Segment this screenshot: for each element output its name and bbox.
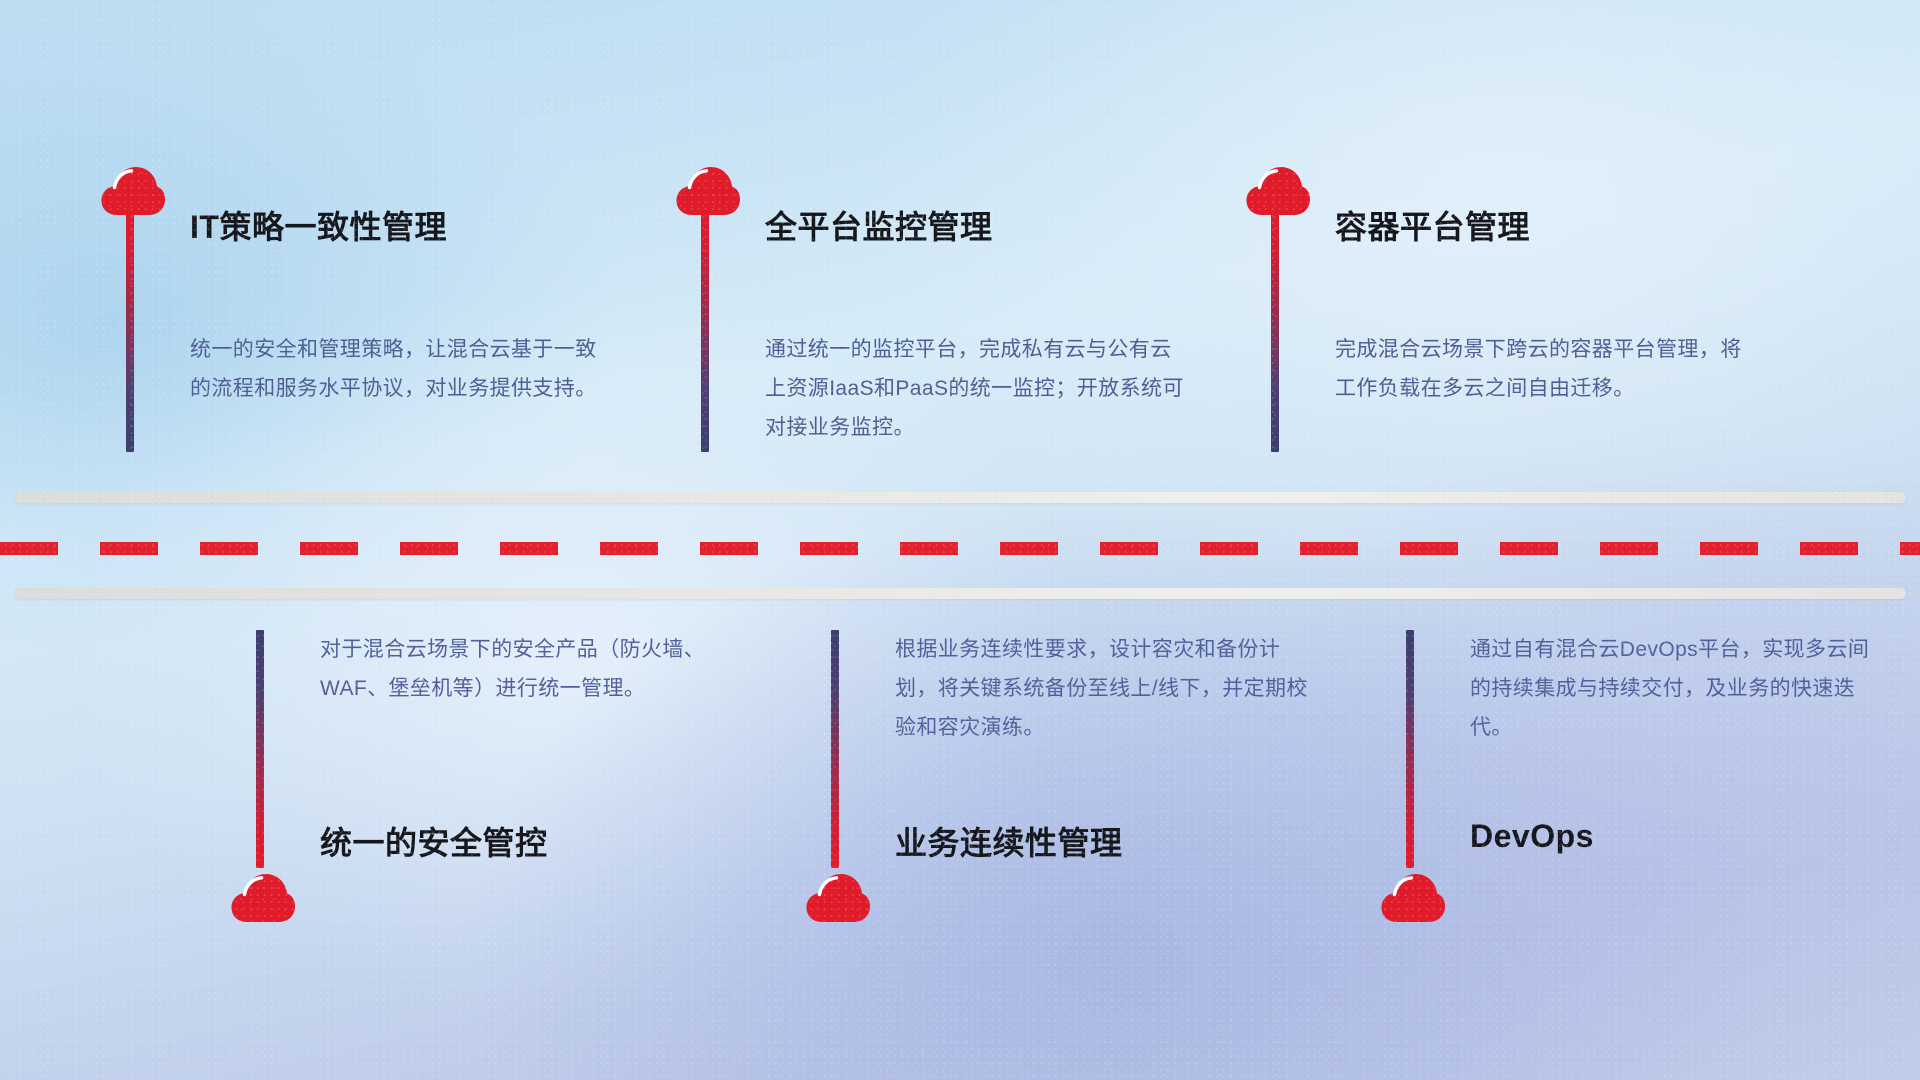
infographic-canvas: IT策略一致性管理 统一的安全和管理策略，让混合云基于一致的流程和服务水平协议，… [0, 0, 1920, 1080]
cloud-icon [1380, 872, 1446, 924]
connector-stem [1271, 210, 1279, 452]
card-title: 全平台监控管理 [765, 202, 993, 248]
card-body: 通过统一的监控平台，完成私有云与公有云上资源IaaS和PaaS的统一监控；开放系… [765, 330, 1185, 447]
card-title: DevOps [1470, 818, 1594, 855]
card-title: 业务连续性管理 [895, 818, 1123, 864]
dashed-red-road-line [0, 542, 1920, 555]
card-body: 完成混合云场景下跨云的容器平台管理，将工作负载在多云之间自由迁移。 [1335, 330, 1755, 408]
connector-stem [1406, 630, 1414, 868]
card-title: IT策略一致性管理 [190, 202, 447, 248]
connector-stem [256, 630, 264, 868]
cloud-icon [230, 872, 296, 924]
card-body: 统一的安全和管理策略，让混合云基于一致的流程和服务水平协议，对业务提供支持。 [190, 330, 610, 408]
card-title: 统一的安全管控 [320, 818, 548, 864]
connector-stem [831, 630, 839, 868]
card-body: 对于混合云场景下的安全产品（防火墙、WAF、堡垒机等）进行统一管理。 [320, 630, 740, 708]
connector-stem [126, 210, 134, 452]
card-body: 通过自有混合云DevOps平台，实现多云间的持续集成与持续交付，及业务的快速迭代… [1470, 630, 1890, 747]
divider-rail-top [14, 492, 1906, 503]
divider-rail-bottom [14, 588, 1906, 599]
card-title: 容器平台管理 [1335, 202, 1530, 248]
cloud-icon [805, 872, 871, 924]
card-body: 根据业务连续性要求，设计容灾和备份计划，将关键系统备份至线上/线下，并定期校验和… [895, 630, 1315, 747]
connector-stem [701, 210, 709, 452]
